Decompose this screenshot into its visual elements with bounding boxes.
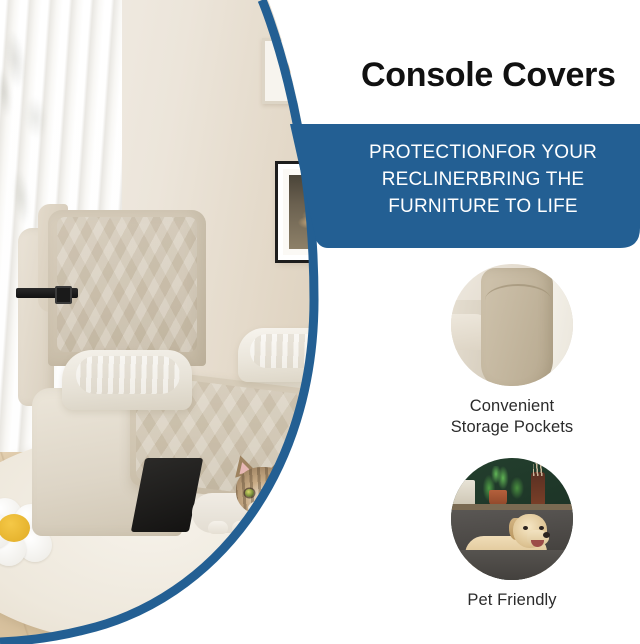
caption-line-1: Convenient [387,396,637,417]
wall-picture-frame-top [262,38,320,104]
left-armrest [62,350,192,410]
banner-line-3: FURNITURE TO LIFE [342,194,624,221]
feature-caption-pet-friendly: Pet Friendly [387,590,637,611]
feature-card-storage-pockets: Convenient Storage Pockets [387,264,637,439]
product-infographic: Console Covers PROTECTIONFOR YOUR RECLIN… [0,0,640,644]
feature-caption-storage-pockets: Convenient Storage Pockets [387,396,637,439]
elastic-strap [16,288,78,298]
hero-image-recliner-with-cat [0,0,372,644]
page-title: Console Covers [361,58,633,92]
coffee-cup [276,487,298,507]
feature-card-pet-friendly: Pet Friendly [387,458,637,611]
banner-line-1: PROTECTIONFOR YOUR [342,140,624,167]
storage-pocket-image [451,264,573,386]
promo-banner: PROTECTIONFOR YOUR RECLINERBRING THE FUR… [290,124,640,248]
pet-friendly-image [451,458,573,580]
caption-line-1: Pet Friendly [387,590,637,611]
recliner-chair-with-cover [10,200,340,530]
banner-text-block: PROTECTIONFOR YOUR RECLINERBRING THE FUR… [342,140,624,221]
right-armrest [238,328,340,382]
tabby-cat [192,453,312,541]
caption-line-2: Storage Pockets [387,417,637,438]
banner-line-2: RECLINERBRING THE [342,167,624,194]
